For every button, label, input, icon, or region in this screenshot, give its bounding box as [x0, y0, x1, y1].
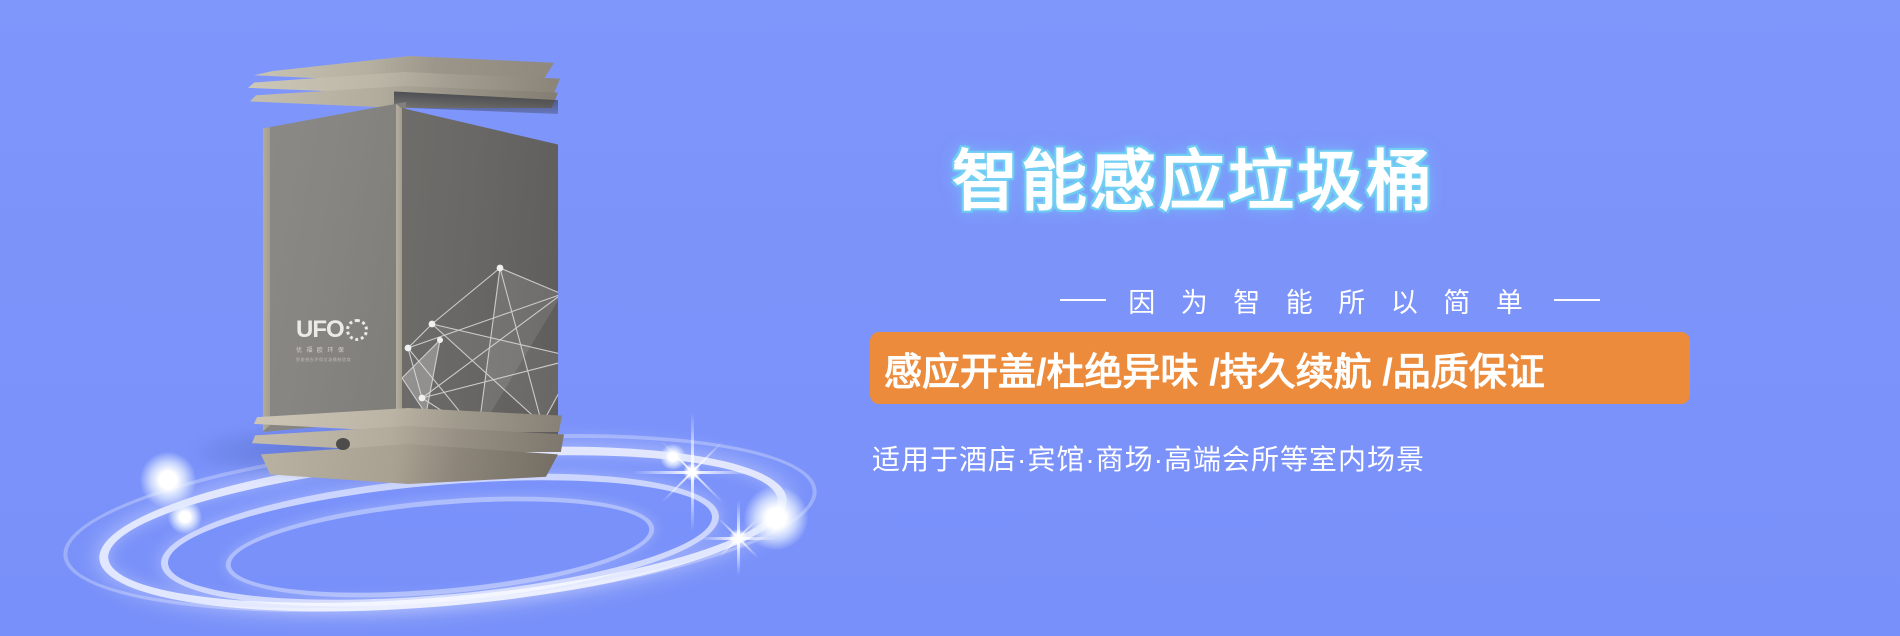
gear-icon	[346, 319, 368, 341]
bin-body-left-face	[260, 102, 406, 432]
brand-logo: UFO 优 福 欧 环 保 智能感应环保垃圾桶制造商	[296, 318, 382, 382]
product-image-trash-bin: UFO 优 福 欧 环 保 智能感应环保垃圾桶制造商	[244, 56, 564, 456]
brand-logo-text: UFO	[296, 318, 344, 342]
banner-subtitle: 因 为 智 能 所 以 简 单	[910, 280, 1750, 320]
subtitle-text: 因 为 智 能 所 以 简 单	[1128, 281, 1532, 320]
feature-strip: 感应开盖/杜绝异味 /持久续航 /品质保证	[870, 332, 1690, 404]
subtitle-dash-left	[1060, 299, 1106, 301]
scene-line: 适用于酒店·宾馆·商场·高端会所等室内场景	[872, 438, 1732, 478]
feature-strip-text: 感应开盖/杜绝异味 /持久续航 /品质保证	[870, 341, 1545, 396]
bin-lid	[244, 56, 564, 108]
copy-block: 智能感应垃圾桶 因 为 智 能 所 以 简 单 感应开盖/杜绝异味 /持久续航 …	[880, 0, 1880, 636]
promo-banner: UFO 优 福 欧 环 保 智能感应环保垃圾桶制造商 智能感应垃圾桶 因 为 智…	[0, 0, 1900, 636]
product-stage: UFO 优 福 欧 环 保 智能感应环保垃圾桶制造商	[0, 0, 900, 636]
bin-body-right-face	[402, 108, 558, 440]
brand-logo-sub: 智能感应环保垃圾桶制造商	[296, 357, 382, 363]
sensor-slot-icon	[336, 438, 350, 450]
brand-logo-cn: 优 福 欧 环 保	[296, 345, 382, 354]
bin-base	[252, 408, 564, 488]
banner-title: 智能感应垃圾桶	[952, 148, 1592, 214]
subtitle-dash-right	[1554, 299, 1600, 301]
